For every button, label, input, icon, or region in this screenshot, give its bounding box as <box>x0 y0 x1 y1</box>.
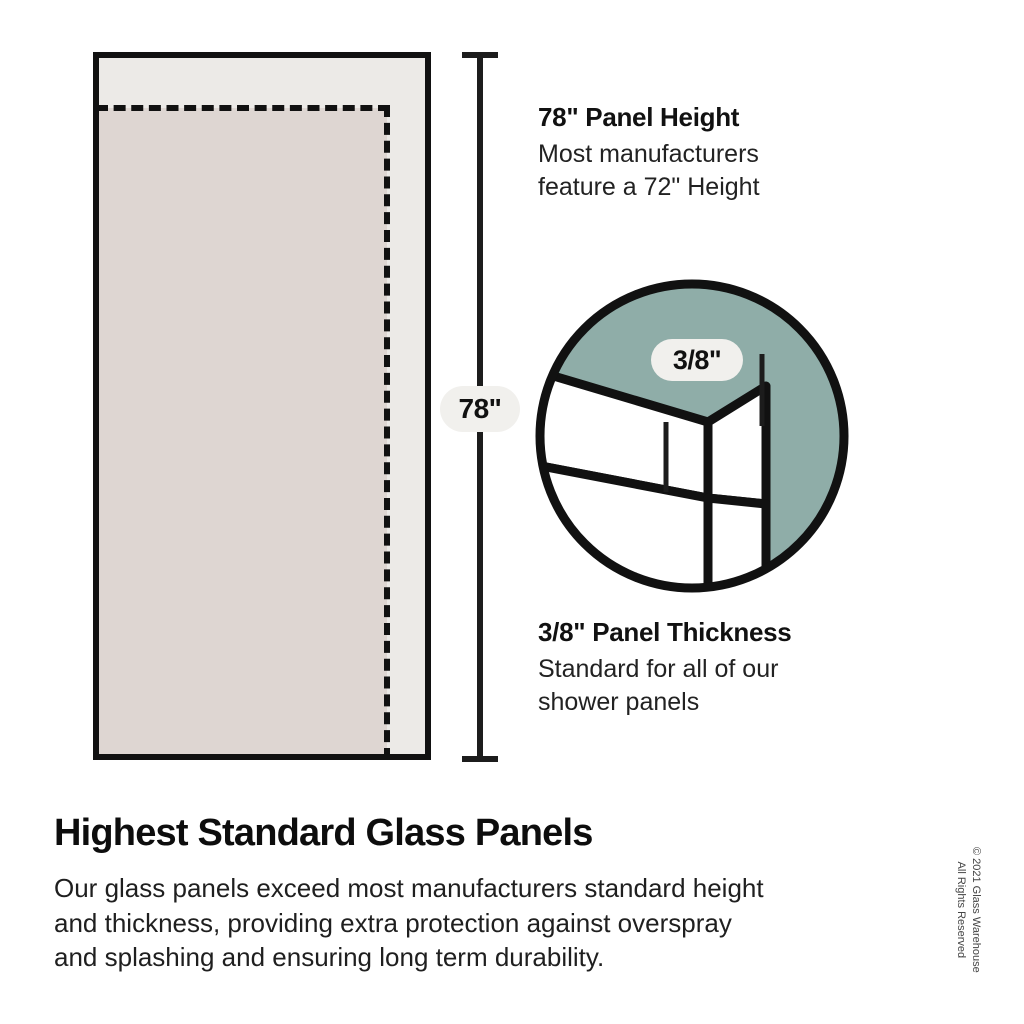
thickness-info-body-line1: Standard for all of our <box>538 655 778 683</box>
footer-block: Highest Standard Glass Panels Our glass … <box>54 812 894 975</box>
height-info-block: 78" Panel Height Most manufacturers feat… <box>538 102 898 203</box>
thickness-info-block: 3/8" Panel Thickness Standard for all of… <box>538 617 898 718</box>
glass-panel-diagram <box>93 52 431 760</box>
copyright-notice: © 2021 Glass Warehouse All Rights Reserv… <box>953 820 983 1000</box>
thickness-info-body-line2: shower panels <box>538 688 699 716</box>
footer-body-line3: and splashing and ensuring long term dur… <box>54 942 604 972</box>
footer-title: Highest Standard Glass Panels <box>54 812 894 855</box>
height-info-body-line1: Most manufacturers <box>538 140 759 168</box>
height-measurement-badge: 78" <box>440 386 520 432</box>
panel-dashed-comparison-outline <box>96 105 390 760</box>
height-info-body-line2: feature a 72" Height <box>538 173 760 201</box>
thickness-info-body: Standard for all of our shower panels <box>538 653 898 718</box>
copyright-line2: All Rights Reserved <box>955 862 967 959</box>
thickness-measurement-badge: 3/8" <box>651 339 743 381</box>
footer-body: Our glass panels exceed most manufacture… <box>54 871 894 975</box>
dimension-cap-bottom <box>462 756 498 762</box>
height-info-title: 78" Panel Height <box>538 102 898 133</box>
thickness-info-title: 3/8" Panel Thickness <box>538 617 898 648</box>
footer-body-line2: and thickness, providing extra protectio… <box>54 908 732 938</box>
footer-body-line1: Our glass panels exceed most manufacture… <box>54 873 764 903</box>
height-info-body: Most manufacturers feature a 72" Height <box>538 138 898 203</box>
thickness-detail-illustration <box>530 274 854 598</box>
thickness-detail-svg <box>530 274 854 598</box>
copyright-line1: © 2021 Glass Warehouse <box>970 847 982 973</box>
